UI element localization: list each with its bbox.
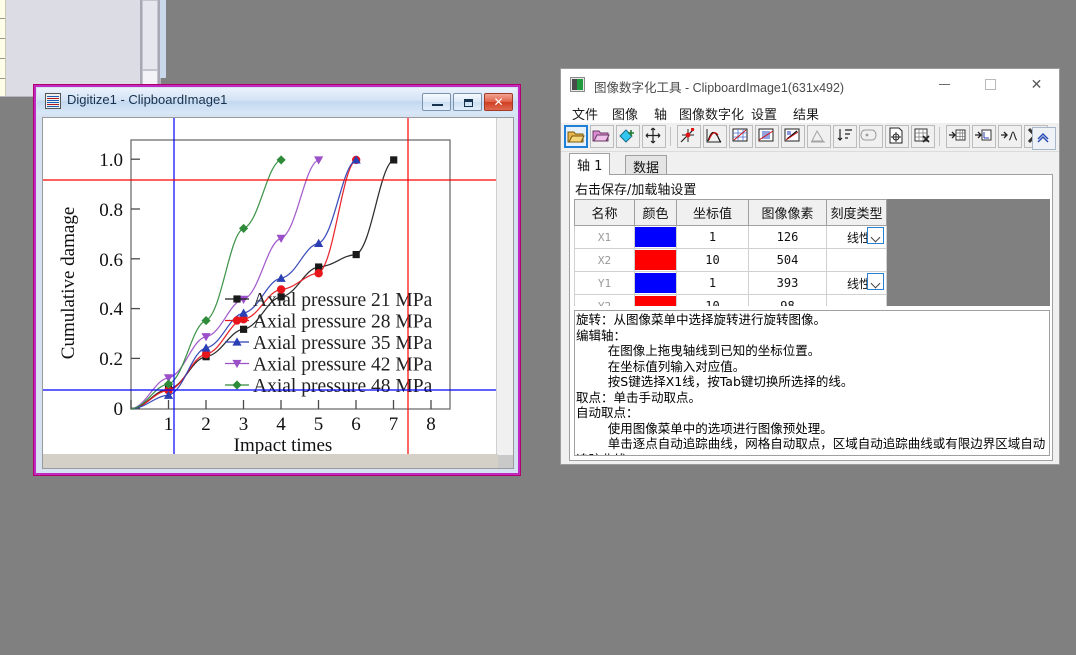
col-header-scale: 刻度类型: [827, 200, 887, 226]
legend-label-1: Axial pressure 28 MPa: [253, 312, 433, 333]
axis-row-value[interactable]: 10: [677, 295, 749, 307]
bounded-area-trace-icon[interactable]: [781, 125, 805, 148]
tool-body: 轴 1 数据 右击保存/加载轴设置 名称 颜色 坐标值 图像像素 刻度类型: [565, 153, 1057, 461]
tool-title-text: 图像数字化工具 - ClipboardImage1(631x492): [594, 77, 844, 96]
sort-icon[interactable]: [833, 125, 857, 148]
export-column-icon[interactable]: [972, 125, 996, 148]
digitize-client-area: 1.0 0.8 0.6 0.4 0.2 0 1: [42, 117, 514, 469]
collapse-ribbon-icon[interactable]: [1032, 127, 1056, 150]
y-tick-0.8: 0.8: [99, 200, 123, 221]
grid-digitize-icon[interactable]: [729, 125, 753, 148]
legend-label-4: Axial pressure 48 MPa: [253, 376, 433, 397]
axis-row-color-swatch[interactable]: [635, 272, 677, 295]
export-curve-icon[interactable]: [998, 125, 1022, 148]
chart-vertical-scrollbar[interactable]: [496, 118, 513, 455]
x-tick-8: 8: [426, 414, 436, 435]
menu-digitize[interactable]: 图像数字化: [675, 103, 748, 124]
axis-row-pixel[interactable]: 126: [749, 226, 827, 249]
help-text: 旋转：从图像菜单中选择旋转进行旋转图像。 编辑轴： 在图像上拖曳轴线到已知的坐标…: [575, 311, 1049, 456]
tag-icon[interactable]: [859, 125, 883, 148]
axis-table-row[interactable]: Y21098: [575, 295, 887, 307]
y-tick-0.6: 0.6: [99, 250, 123, 271]
data-point-marker: [390, 156, 397, 163]
axis-table-row[interactable]: X11126线性: [575, 226, 887, 249]
axis-row-scale[interactable]: 线性: [827, 226, 887, 249]
chart-horizontal-scrollbar[interactable]: [43, 454, 498, 468]
col-header-value: 坐标值: [677, 200, 749, 226]
data-point-marker: [353, 251, 360, 258]
x-tick-3: 3: [239, 414, 249, 435]
digitize-minimize-button[interactable]: [422, 93, 451, 111]
axis-row-name: X2: [575, 249, 635, 272]
x-tick-4: 4: [276, 414, 286, 435]
data-point-marker: [233, 316, 241, 324]
tool-toolbar[interactable]: [561, 123, 1059, 152]
digitize-close-button[interactable]: ✕: [484, 93, 513, 111]
x-tick-6: 6: [351, 414, 361, 435]
digitize-window[interactable]: Digitize1 - ClipboardImage1 ✕ 1.0 0.8: [33, 84, 521, 476]
axis-row-pixel[interactable]: 98: [749, 295, 827, 307]
col-header-color: 颜色: [635, 200, 677, 226]
axis-row-name: Y1: [575, 272, 635, 295]
legend-label-0: Axial pressure 21 MPa: [253, 290, 433, 311]
digitizer-tool-window[interactable]: 图像数字化工具 - ClipboardImage1(631x492) ✕ 文件 …: [560, 68, 1060, 465]
axis-row-color-swatch[interactable]: [635, 226, 677, 249]
tab-strip[interactable]: 轴 1 数据: [569, 153, 1053, 174]
y-tick-0: 0: [114, 399, 124, 420]
delete-grid-icon[interactable]: [911, 125, 935, 148]
digitize-app-icon: [45, 93, 61, 109]
axis-row-color-swatch[interactable]: [635, 249, 677, 272]
background-window-edge: [160, 0, 166, 78]
tool-titlebar[interactable]: 图像数字化工具 - ClipboardImage1(631x492) ✕: [561, 69, 1059, 101]
axis-table-row[interactable]: Y11393线性: [575, 272, 887, 295]
tab-data[interactable]: 数据: [625, 155, 667, 174]
axis-table-header-row: 名称 颜色 坐标值 图像像素 刻度类型: [575, 200, 887, 226]
y-axis-label: Cumulative damage: [58, 207, 79, 359]
col-header-name: 名称: [575, 200, 635, 226]
background-window-ruler: [0, 0, 6, 96]
export-table-icon[interactable]: [946, 125, 970, 148]
axis-row-pixel[interactable]: 504: [749, 249, 827, 272]
axis-row-scale[interactable]: 线性: [827, 272, 887, 295]
x-tick-5: 5: [314, 414, 324, 435]
chart-legend: Axial pressure 21 MPaAxial pressure 28 M…: [225, 290, 433, 397]
axis-table[interactable]: 名称 颜色 坐标值 图像像素 刻度类型 X11126线性X210504Y1139…: [574, 199, 887, 306]
area-trace-icon[interactable]: [755, 125, 779, 148]
digitize-title-text: Digitize1 - ClipboardImage1: [67, 92, 227, 107]
measure-icon[interactable]: [807, 125, 831, 148]
tab-page-axis: 右击保存/加载轴设置 名称 颜色 坐标值 图像像素 刻度类型 X11126线性X…: [569, 174, 1053, 461]
data-point-marker: [233, 295, 240, 302]
background-window-left: [0, 0, 161, 97]
axis-row-color-swatch[interactable]: [635, 295, 677, 307]
menu-axis[interactable]: 轴: [650, 103, 671, 124]
add-point-icon[interactable]: [885, 125, 909, 148]
tool-close-button[interactable]: ✕: [1013, 69, 1059, 100]
legend-label-2: Axial pressure 35 MPa: [253, 333, 433, 354]
data-point-marker: [240, 326, 247, 333]
menu-results[interactable]: 结果: [789, 103, 823, 124]
tool-maximize-button[interactable]: [967, 69, 1013, 100]
axis-row-name: Y2: [575, 295, 635, 307]
set-axis-point-icon[interactable]: [677, 125, 701, 148]
col-header-pixel: 图像像素: [749, 200, 827, 226]
tab-axis-1[interactable]: 轴 1: [569, 153, 610, 175]
tool-minimize-button[interactable]: [921, 69, 967, 100]
axis-row-name: X1: [575, 226, 635, 249]
paste-image-icon[interactable]: [616, 125, 640, 148]
x-axis-label: Impact times: [234, 435, 333, 455]
y-tick-0.2: 0.2: [99, 349, 123, 370]
digitize-maximize-button[interactable]: [453, 93, 482, 111]
axis-row-scale[interactable]: [827, 295, 887, 307]
tool-app-icon: [570, 77, 585, 92]
y-tick-0.4: 0.4: [99, 299, 123, 320]
chart-svg: 1.0 0.8 0.6 0.4 0.2 0 1: [43, 118, 498, 455]
move-axes-icon[interactable]: [642, 125, 666, 148]
axis-row-pixel[interactable]: 393: [749, 272, 827, 295]
y-tick-1.0: 1.0: [99, 150, 123, 171]
axis-row-scale[interactable]: [827, 249, 887, 272]
axis-row-value[interactable]: 1: [677, 226, 749, 249]
x-tick-7: 7: [389, 414, 399, 435]
open-project-icon[interactable]: [590, 125, 614, 148]
open-image-icon[interactable]: [564, 125, 588, 148]
axis-row-value[interactable]: 10: [677, 249, 749, 272]
background-window-scroll: [140, 0, 160, 88]
help-text-box[interactable]: 旋转：从图像菜单中选择旋转进行旋转图像。 编辑轴： 在图像上拖曳轴线到已知的坐标…: [574, 310, 1050, 456]
axis-table-row[interactable]: X210504: [575, 249, 887, 272]
menu-image[interactable]: 图像: [608, 103, 642, 124]
axis-row-value[interactable]: 1: [677, 272, 749, 295]
x-tick-1: 1: [164, 414, 174, 435]
chevron-down-icon[interactable]: [867, 227, 884, 244]
tool-menubar[interactable]: 文件 图像 轴 图像数字化 设置 结果: [561, 101, 1059, 123]
axis-table-container[interactable]: 名称 颜色 坐标值 图像像素 刻度类型 X11126线性X210504Y1139…: [574, 199, 1050, 306]
menu-settings[interactable]: 设置: [747, 103, 781, 124]
chevron-down-icon[interactable]: [867, 273, 884, 290]
x-tick-2: 2: [201, 414, 211, 435]
legend-label-3: Axial pressure 42 MPa: [253, 355, 433, 376]
curve-digitize-icon[interactable]: [703, 125, 727, 148]
digitize-titlebar[interactable]: Digitize1 - ClipboardImage1 ✕: [37, 88, 517, 114]
data-point-marker: [314, 269, 322, 277]
chart-image-canvas[interactable]: 1.0 0.8 0.6 0.4 0.2 0 1: [43, 118, 498, 455]
axis-settings-hint: 右击保存/加载轴设置: [575, 179, 696, 198]
menu-file[interactable]: 文件: [568, 103, 602, 124]
